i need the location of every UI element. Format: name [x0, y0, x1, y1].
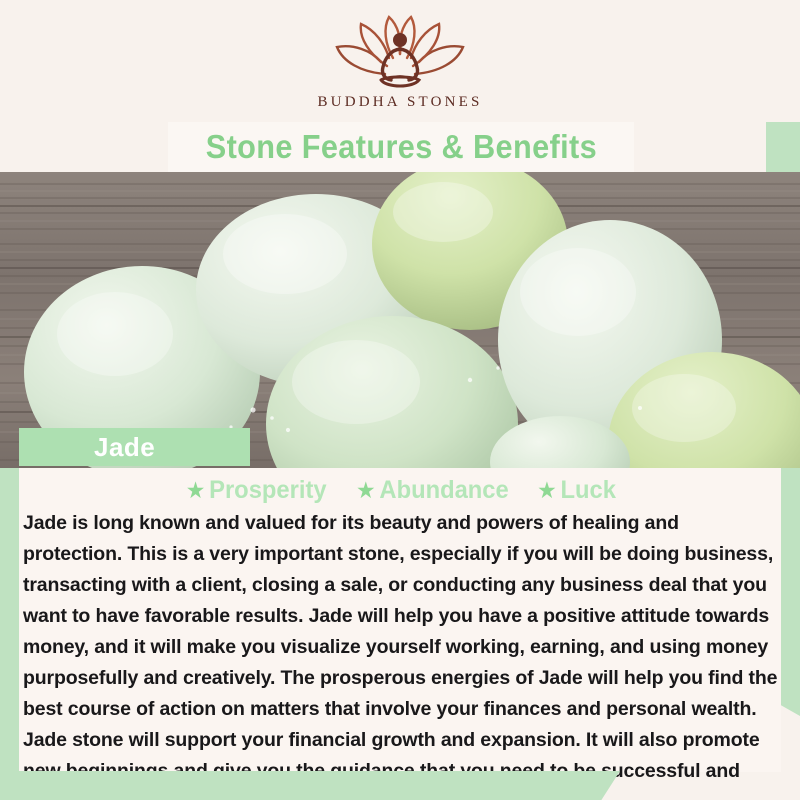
benefit-label: Prosperity [209, 476, 326, 504]
page-title: Stone Features & Benefits [205, 128, 596, 166]
stone-info-poster: BUDDHA STONES Stone Features & Benefits [0, 0, 800, 800]
benefit-item: ★Luck [538, 476, 617, 505]
stone-photo [0, 172, 800, 468]
stone-photo-graphic [0, 172, 800, 468]
lotus-meditation-icon [0, 14, 800, 92]
benefit-label: Luck [561, 476, 616, 504]
stone-name: Jade [94, 432, 155, 463]
description-text: Jade is long known and valued for its be… [23, 508, 781, 800]
green-accent-bottom [0, 771, 620, 800]
content-panel: ★Prosperity ★Abundance ★Luck Jade is lon… [19, 468, 781, 772]
brand-logo: BUDDHA STONES [0, 14, 800, 111]
title-banner: Stone Features & Benefits [168, 122, 634, 172]
star-icon: ★ [356, 477, 376, 503]
stone-name-banner: Jade [19, 428, 250, 466]
benefit-label: Abundance [380, 476, 509, 504]
star-icon: ★ [185, 477, 205, 503]
benefit-item: ★Abundance [356, 476, 509, 505]
brand-name: BUDDHA STONES [0, 94, 800, 111]
benefit-item: ★Prosperity [185, 476, 326, 505]
star-icon: ★ [538, 477, 558, 503]
header: BUDDHA STONES [0, 0, 800, 122]
benefits-list: ★Prosperity ★Abundance ★Luck [19, 476, 781, 505]
